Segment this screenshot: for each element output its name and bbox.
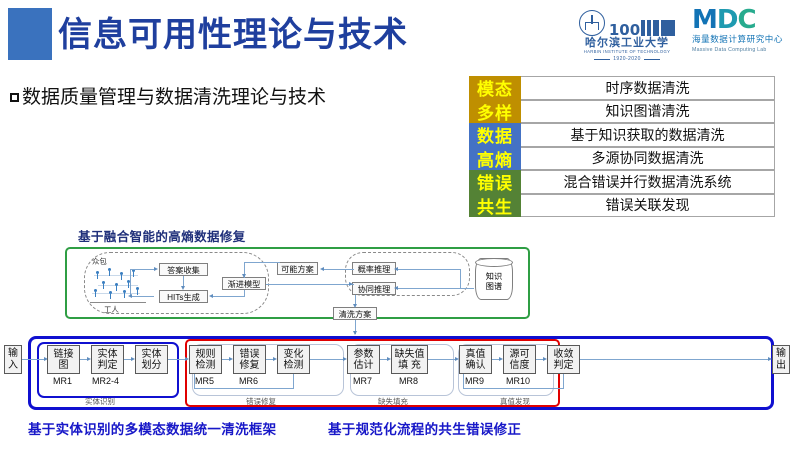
hit-logo-marks: 100 (568, 6, 686, 36)
hit-years: 1920-2020 (568, 56, 686, 62)
step-mr-label: MR8 (399, 376, 418, 386)
hit-name-cn: 哈尔滨工业大学 (568, 36, 686, 49)
campus-building-icon (641, 20, 675, 36)
pipeline-input-box: 输 入 (4, 345, 22, 374)
arrow-kg-to-prob (396, 269, 460, 270)
mdc-name-cn: 海量数据计算研究中心 (692, 34, 796, 46)
pipeline-output-box: 输 出 (772, 345, 790, 374)
table-value-cell: 基于知识获取的数据清洗 (521, 123, 775, 147)
input-label-line1: 输 (8, 348, 18, 360)
step-entity-partition: 实体 划分 (135, 345, 168, 374)
group-label-entity-recognition: 实体识别 (85, 396, 115, 407)
group-label-missing-fill: 缺失填充 (378, 396, 408, 407)
hit-logo: 100 哈尔滨工业大学 HARBIN INSTITUTE OF TECHNOLO… (568, 6, 686, 62)
arrow-to-output (580, 359, 752, 360)
node-possible-plan: 可能方案 (277, 262, 318, 275)
step-mr-label: MR10 (506, 376, 530, 386)
kg-label-line2: 图谱 (486, 282, 502, 292)
topic-table: 模态 时序数据清洗 多样 知识图谱清洗 数据 基于知识获取的数据清洗 高熵 多源… (469, 76, 775, 217)
kg-label-line1: 知识 (486, 272, 502, 282)
arrow-hits-to-crowd (130, 296, 154, 297)
step-label-line2: 填 充 (398, 360, 421, 371)
step-label-line1: 收敛 (554, 349, 574, 360)
step-mr-label: MR5 (195, 376, 214, 386)
arrow-model-down (244, 290, 245, 297)
bullet-line: 数据质量管理与数据清洗理论与技术 (10, 82, 326, 109)
table-value-cell: 混合错误并行数据清洗系统 (521, 170, 775, 194)
group-label-error-repair: 错误修复 (246, 396, 276, 407)
arrow-kg-branch (460, 269, 461, 288)
table-key-cell: 模态 (469, 76, 521, 100)
mdc-letter-d: D (717, 5, 738, 35)
centennial-icon: 100 (609, 20, 675, 36)
step-label-line2: 确认 (466, 360, 486, 371)
hit-seal-icon (579, 10, 605, 36)
step-label-line2: 判定 (554, 360, 574, 371)
step-label-line1: 缺失值 (395, 349, 425, 360)
table-row: 共生 错误关联发现 (469, 194, 775, 218)
arrow-input (22, 359, 44, 360)
arrowhead (349, 282, 353, 286)
feedback-line-error-up (194, 374, 195, 388)
feedback-line-error (293, 374, 294, 388)
step-param-estimate: 参数 估计 (347, 345, 380, 374)
arrowhead (768, 357, 772, 361)
step-label-line1: 链接 (54, 349, 74, 360)
worker-label: 工人 (104, 304, 119, 315)
step-source-credibility: 源可 信度 (503, 345, 536, 374)
page-title: 信息可用性理论与技术 (58, 10, 408, 60)
step-mr-label: MR7 (353, 376, 372, 386)
bullet-square-icon (10, 93, 19, 102)
table-key-cell: 共生 (469, 194, 521, 218)
arrow-prob-to-plan (322, 269, 354, 270)
group-label-truth-discovery: 真值发现 (500, 396, 530, 407)
step-label-line2: 图 (59, 360, 69, 371)
step-entity-judge: 实体 判定 (91, 345, 124, 374)
arrow-model-to-hits (211, 296, 244, 297)
bullet-text: 数据质量管理与数据清洗理论与技术 (22, 87, 326, 108)
step-label-line1: 实体 (98, 349, 118, 360)
node-answer-collect: 答案收集 (159, 263, 208, 276)
step-label-line2: 信度 (510, 360, 530, 371)
hit-name-en: HARBIN INSTITUTE OF TECHNOLOGY (568, 49, 686, 55)
mdc-letter-m: M (692, 5, 717, 35)
arrowhead (242, 274, 246, 278)
step-label-line2: 估计 (354, 360, 374, 371)
caption-right: 基于规范化流程的共生错误修正 (328, 418, 521, 438)
step-mr-label: MR2-4 (92, 376, 119, 386)
step-label-line1: 错误 (240, 349, 260, 360)
arrow-kg-to-collab (396, 288, 474, 289)
step-error-repair: 错误 修复 (233, 345, 266, 374)
input-label-line2: 入 (8, 360, 18, 372)
step-label-line2: 判定 (98, 360, 118, 371)
feedback-line-truth-up (463, 374, 464, 388)
step-label-line2: 修复 (240, 360, 260, 371)
arrowhead (181, 286, 185, 290)
arrowhead (394, 286, 398, 290)
output-label-line1: 输 (776, 348, 786, 360)
feedback-line-error-h (194, 388, 294, 389)
centennial-number: 100 (609, 25, 640, 36)
table-row: 高熵 多源协同数据清洗 (469, 147, 775, 171)
arrowhead (209, 294, 213, 298)
title-accent-block (8, 8, 52, 60)
step-converge-judge: 收敛 判定 (547, 345, 580, 374)
step-change-detect: 变化 检测 (277, 345, 310, 374)
step-label-line1: 真值 (466, 349, 486, 360)
arrow-crowd-to-answer (130, 269, 154, 270)
mdc-name-en: Massive Data Computing Lab (692, 46, 796, 54)
middle-diagram-title: 基于融合智能的高熵数据修复 (78, 226, 246, 245)
table-value-cell: 知识图谱清洗 (521, 100, 775, 124)
arrow-crowd-up (130, 269, 131, 296)
table-row: 错误 混合错误并行数据清洗系统 (469, 170, 775, 194)
feedback-line-truth (563, 374, 564, 388)
slide: 信息可用性理论与技术 100 哈尔滨工业大学 HARBIN INSTITUTE … (0, 0, 800, 450)
node-collab-reason: 协同推理 (352, 282, 396, 295)
feedback-line-truth-h (463, 388, 564, 389)
logo-group: 100 哈尔滨工业大学 HARBIN INSTITUTE OF TECHNOLO… (568, 6, 796, 68)
step-label-line2: 划分 (142, 360, 162, 371)
table-row: 模态 时序数据清洗 (469, 76, 775, 100)
arrowhead (154, 267, 158, 271)
step-label-line1: 规则 (196, 349, 216, 360)
arrowhead (353, 331, 357, 335)
mdc-letter-c: C (737, 5, 755, 35)
step-label-line1: 源可 (510, 349, 530, 360)
table-value-cell: 错误关联发现 (521, 194, 775, 218)
table-row: 多样 知识图谱清洗 (469, 100, 775, 124)
arrowhead (394, 267, 398, 271)
mdc-logo: MDC 海量数据计算研究中心 Massive Data Computing La… (692, 6, 796, 54)
table-value-cell: 时序数据清洗 (521, 76, 775, 100)
arrowhead (320, 267, 324, 271)
step-label-line2: 检测 (196, 360, 216, 371)
arrow-model-to-collab (266, 284, 354, 285)
mdc-wordmark: MDC (692, 6, 796, 34)
step-label-line1: 参数 (354, 349, 374, 360)
node-progressive-model: 渐进模型 (222, 277, 266, 290)
node-clean-plan: 清洗方案 (333, 307, 377, 320)
step-label-line2: 检测 (284, 360, 304, 371)
node-hits-gen: HITs生成 (159, 290, 208, 303)
table-row: 数据 基于知识获取的数据清洗 (469, 123, 775, 147)
arrow-answer-to-hits (183, 276, 184, 286)
table-key-cell: 多样 (469, 100, 521, 124)
output-label-line2: 出 (776, 360, 786, 372)
step-label-line1: 变化 (284, 349, 304, 360)
step-rule-detect: 规则 检测 (189, 345, 222, 374)
step-missing-fill: 缺失值 填 充 (391, 345, 428, 374)
arrow-plan-to-model (244, 262, 280, 263)
step-mr-label: MR1 (53, 376, 72, 386)
step-label-line1: 实体 (142, 349, 162, 360)
table-key-cell: 高熵 (469, 147, 521, 171)
step-mr-label: MR6 (239, 376, 258, 386)
step-mr-label: MR9 (465, 376, 484, 386)
crowd-baseline (90, 302, 146, 303)
arrowhead (128, 294, 132, 298)
table-value-cell: 多源协同数据清洗 (521, 147, 775, 171)
step-link-graph: 链接 图 (47, 345, 80, 374)
arrowhead (353, 304, 357, 308)
table-key-cell: 错误 (469, 170, 521, 194)
caption-left: 基于实体识别的多模态数据统一清洗框架 (28, 418, 276, 438)
node-prob-reason: 概率推理 (352, 262, 396, 275)
knowledge-graph-db-icon: 知识 图谱 (475, 258, 513, 300)
step-truth-confirm: 真值 确认 (459, 345, 492, 374)
table-key-cell: 数据 (469, 123, 521, 147)
